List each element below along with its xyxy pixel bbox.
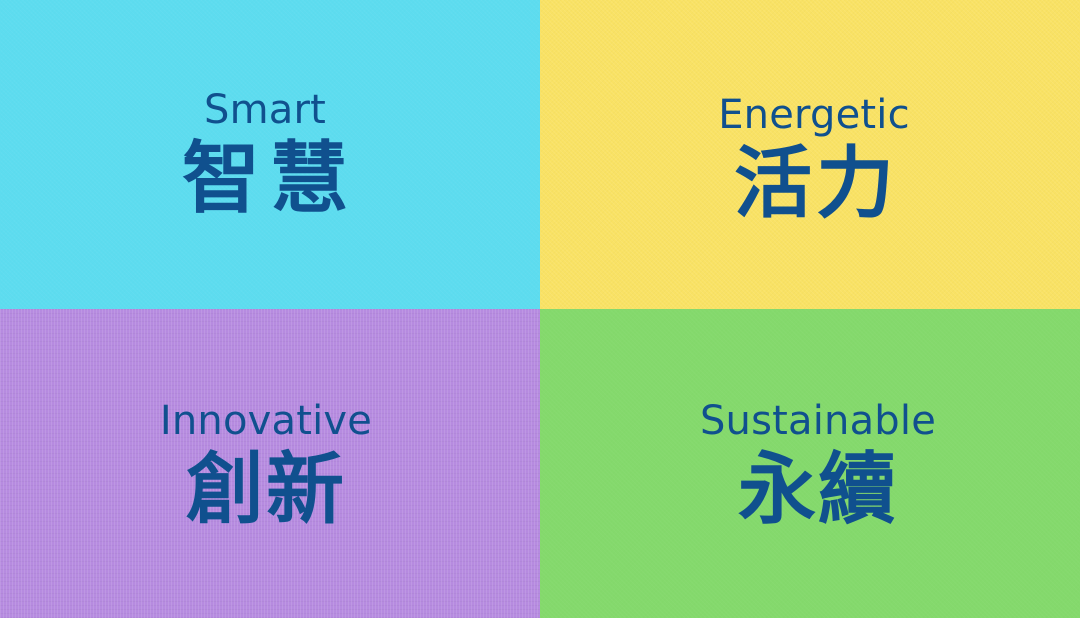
quadrant-smart-english-label: Smart xyxy=(204,89,326,131)
quadrant-innovative-chinese-label: 創新 xyxy=(186,448,346,532)
label-stack-sustainable: Sustainable 永續 xyxy=(700,400,936,532)
quadrant-energetic-chinese-label: 活力 xyxy=(730,142,898,226)
brand-values-quadrant-board: Smart 智慧 Energetic 活力 Innovative 創新 Sust… xyxy=(0,0,1080,618)
quadrant-energetic-english-label: Energetic xyxy=(718,94,910,136)
quadrant-smart: Smart 智慧 xyxy=(0,0,540,309)
quadrant-sustainable-english-label: Sustainable xyxy=(700,400,936,442)
label-stack-innovative: Innovative 創新 xyxy=(160,400,372,532)
quadrant-innovative-english-label: Innovative xyxy=(160,400,372,442)
quadrant-energetic: Energetic 活力 xyxy=(540,0,1080,309)
label-stack-energetic: Energetic 活力 xyxy=(718,94,910,226)
quadrant-smart-chinese-label: 智慧 xyxy=(172,137,358,221)
quadrant-sustainable-chinese-label: 永續 xyxy=(738,448,898,532)
quadrant-innovative: Innovative 創新 xyxy=(0,309,540,618)
label-stack-smart: Smart 智慧 xyxy=(172,89,358,221)
quadrant-sustainable: Sustainable 永續 xyxy=(540,309,1080,618)
